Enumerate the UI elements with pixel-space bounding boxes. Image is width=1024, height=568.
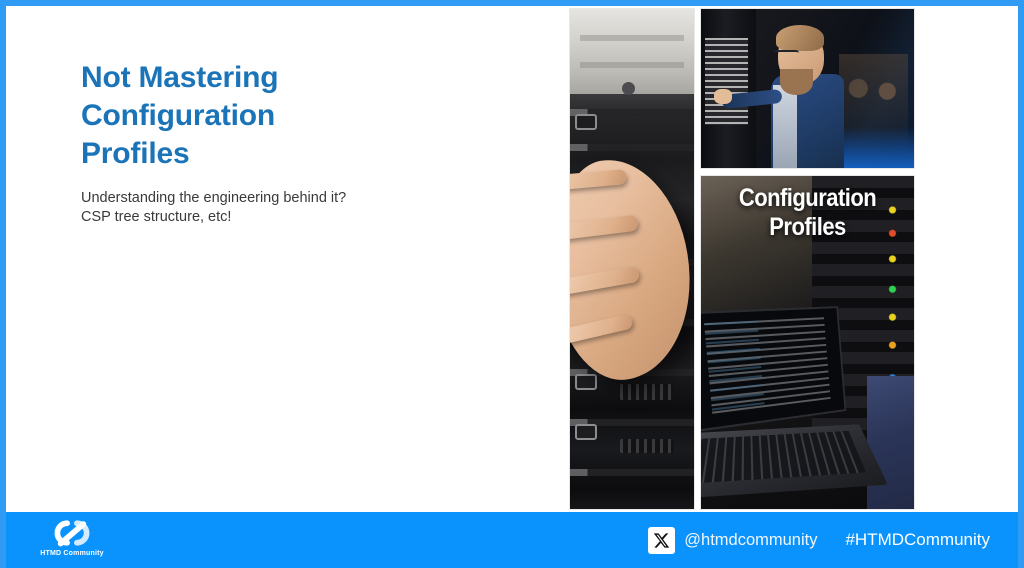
configuration-profiles-photo: Configuration Profiles: [700, 175, 915, 510]
x-handle-group[interactable]: @htmdcommunity: [648, 527, 817, 554]
title-line-1: Not Mastering: [81, 59, 501, 97]
rack-slot: [570, 469, 694, 476]
subtitle-line-2: CSP tree structure, etc!: [81, 208, 501, 227]
engineer-hand: [714, 89, 732, 104]
finger: [569, 266, 640, 297]
slide-subtitle: Understanding the engineering behind it?…: [81, 189, 501, 227]
rack-vent: [620, 439, 675, 453]
photo-overlay-title: Configuration Profiles: [714, 184, 901, 242]
title-line-3: Profiles: [81, 135, 501, 173]
server-rack-hand-photo: [569, 8, 695, 510]
drive-bay: [575, 374, 597, 390]
laptop-screen: [700, 306, 846, 431]
drive-bay: [575, 424, 597, 440]
finger: [569, 215, 639, 243]
page-title: Not Mastering Configuration Profiles: [81, 59, 501, 173]
social-links: @htmdcommunity #HTMDCommunity: [648, 512, 990, 568]
finger: [569, 314, 633, 346]
x-handle-text[interactable]: @htmdcommunity: [684, 531, 817, 550]
engineer-beard: [780, 69, 813, 95]
htmd-logo-label: HTMD Community: [36, 550, 108, 557]
footer-bar: HTMD Community @htmdcommunity #HTMDCommu…: [6, 512, 1018, 568]
laptop: [700, 309, 884, 502]
overlay-line-1: Configuration: [714, 184, 901, 213]
finger: [569, 169, 626, 191]
rack-top-unit: [570, 9, 694, 94]
slide-canvas: Not Mastering Configuration Profiles Und…: [6, 6, 1018, 568]
hashtag-text: #HTMDCommunity: [845, 530, 990, 550]
title-line-2: Configuration: [81, 97, 501, 135]
slide-text-block: Not Mastering Configuration Profiles Und…: [81, 59, 501, 227]
engineer-hair: [776, 25, 824, 51]
htmd-infinity-logo-icon: [46, 518, 98, 548]
x-twitter-icon[interactable]: [648, 527, 675, 554]
laptop-keys: [700, 431, 867, 483]
engineer-at-rack-photo: [700, 8, 915, 169]
rack-indicator-dot: [622, 82, 635, 95]
htmd-logo: HTMD Community: [36, 518, 108, 557]
laptop-keyboard-base: [700, 424, 888, 498]
subtitle-line-1: Understanding the engineering behind it?: [81, 189, 501, 208]
engineer-glasses: [773, 50, 799, 56]
collage-left-column: [569, 8, 695, 510]
collage-right-column: Configuration Profiles: [700, 8, 915, 510]
rack-slot: [570, 144, 694, 151]
code-text: [704, 317, 831, 418]
drive-bay: [575, 114, 597, 130]
hand-on-rack: [569, 150, 695, 389]
rack-vent: [620, 384, 675, 400]
overlay-line-2: Profiles: [714, 213, 901, 242]
patch-cables: [705, 38, 748, 125]
photo-collage: Configuration Profiles: [569, 8, 915, 510]
slide-frame: Not Mastering Configuration Profiles Und…: [0, 0, 1024, 568]
